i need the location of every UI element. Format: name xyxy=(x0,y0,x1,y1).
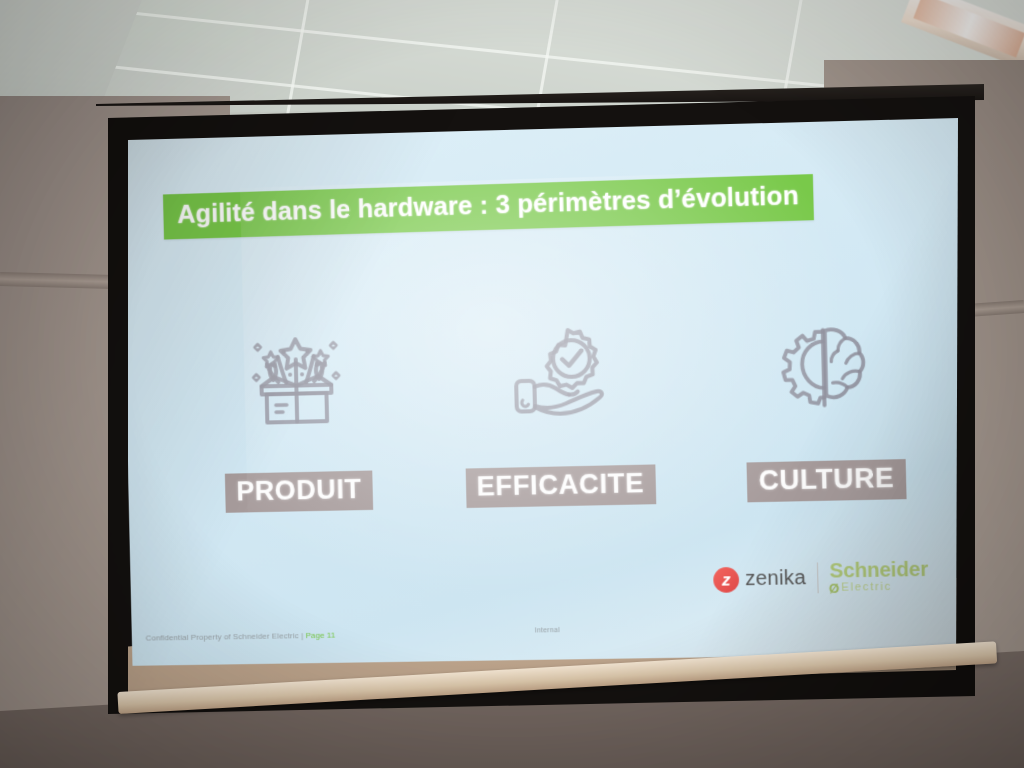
pillar-efficacite: EFFICACITE xyxy=(439,315,679,508)
schneider-electric-logo: Schneider Electric xyxy=(829,559,928,594)
pillars-row: PRODUIT xyxy=(166,308,934,579)
logo-divider xyxy=(817,562,819,593)
brain-gear-icon xyxy=(772,310,876,427)
hand-holding-gear-check-icon xyxy=(504,317,612,433)
zenika-mark-icon: z xyxy=(713,566,739,592)
room-photo-scene: Agilité dans le hardware : 3 périmètres … xyxy=(0,0,1024,768)
slide-footer: Confidential Property of Schneider Elect… xyxy=(132,620,976,649)
pillar-label-efficacite: EFFICACITE xyxy=(465,464,656,508)
pillar-label-culture: CULTURE xyxy=(747,459,906,502)
footer-classification: Internal xyxy=(132,620,976,640)
pillar-culture: CULTURE xyxy=(703,308,947,503)
electric-wordmark: Electric xyxy=(830,581,929,594)
slide-title-band: Agilité dans le hardware : 3 périmètres … xyxy=(163,174,814,239)
page-title: Agilité dans le hardware : 3 périmètres … xyxy=(177,182,799,230)
logo-row: z zenika Schneider Electric xyxy=(713,559,929,596)
zenika-wordmark: zenika xyxy=(745,566,806,591)
slide-content-area: Agilité dans le hardware : 3 périmètres … xyxy=(120,103,976,665)
projection-screen: Agilité dans le hardware : 3 périmètres … xyxy=(0,0,1024,768)
projected-slide-surface: Agilité dans le hardware : 3 périmètres … xyxy=(100,96,980,716)
pillar-produit: PRODUIT xyxy=(180,322,415,514)
slide: Agilité dans le hardware : 3 périmètres … xyxy=(100,96,980,716)
zenika-logo: z zenika xyxy=(713,565,806,592)
gift-box-burst-icon xyxy=(243,324,349,439)
pillar-label-produit: PRODUIT xyxy=(225,471,373,513)
schneider-wordmark: Schneider xyxy=(829,559,928,581)
